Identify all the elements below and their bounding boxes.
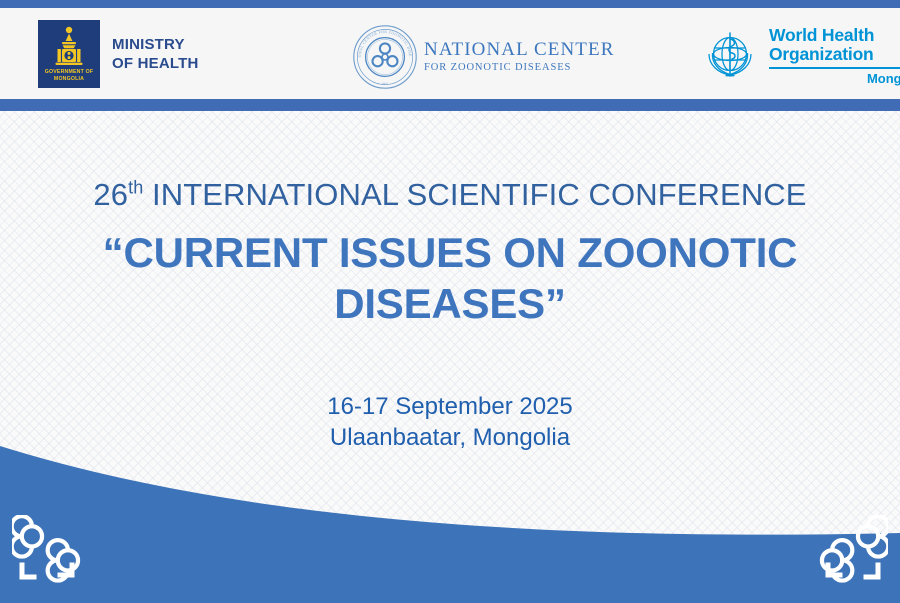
crest-caption-line1: GOVERNMENT OF	[38, 69, 100, 76]
national-center-name-line1: NATIONAL CENTER	[424, 39, 614, 61]
crest-caption-line2: MONGOLIA	[38, 76, 100, 83]
who-emblem-icon	[700, 27, 760, 85]
conference-title-slide: GOVERNMENT OF MONGOLIA MINISTRY OF HEALT…	[0, 0, 900, 603]
wave-blue-shape	[0, 446, 900, 603]
who-country-label: Mongolia	[769, 71, 900, 86]
who-divider	[769, 67, 900, 69]
seal-year: 1931	[382, 81, 389, 85]
soyombo-symbol-icon	[49, 25, 89, 71]
who-name-line2: Organization	[769, 45, 900, 64]
page-title: “CURRENT ISSUES ON ZOONOTIC DISEASES”	[0, 227, 900, 329]
who-logo: World Health Organization Mongolia	[700, 26, 900, 86]
national-center-name-line2: FOR ZOONOTIC DISEASES	[424, 61, 614, 75]
edition-ordinal-suffix: th	[128, 178, 143, 198]
crest-caption: GOVERNMENT OF MONGOLIA	[38, 69, 100, 83]
ministry-name-line1: MINISTRY	[112, 35, 199, 54]
page-title-line1: “CURRENT ISSUES ON ZOONOTIC	[60, 227, 840, 278]
footer-wave-band	[0, 443, 900, 603]
mongolia-state-emblem-icon: GOVERNMENT OF MONGOLIA	[38, 20, 100, 88]
national-center-logo: 1931 NATIONAL CENTER FOR ZOONOTIC DISEAS…	[352, 24, 614, 90]
top-accent-bar	[0, 0, 900, 8]
edition-number: 26	[93, 177, 128, 212]
mongolian-ulzii-knot-icon	[12, 515, 98, 585]
mongolian-ulzii-knot-icon	[802, 515, 888, 585]
ministry-of-health-logo: GOVERNMENT OF MONGOLIA MINISTRY OF HEALT…	[38, 20, 338, 88]
national-center-name: NATIONAL CENTER FOR ZOONOTIC DISEASES	[424, 39, 614, 75]
slide-body: 26th INTERNATIONAL SCIENTIFIC CONFERENCE…	[0, 111, 900, 471]
event-dates: 16-17 September 2025	[0, 391, 900, 422]
conference-edition-line: 26th INTERNATIONAL SCIENTIFIC CONFERENCE	[0, 177, 900, 213]
wave-shape	[0, 443, 900, 603]
edition-text: INTERNATIONAL SCIENTIFIC CONFERENCE	[152, 177, 807, 212]
who-name: World Health Organization Mongolia	[769, 26, 900, 86]
ministry-name-line2: OF HEALTH	[112, 54, 199, 73]
header-separator-bar	[0, 99, 900, 111]
zoonotic-seal-icon: 1931 NATIONAL CENTER FOR ZOONOTIC DISEAS…	[352, 24, 418, 90]
ministry-of-health-name: MINISTRY OF HEALTH	[112, 35, 199, 73]
logo-row: GOVERNMENT OF MONGOLIA MINISTRY OF HEALT…	[0, 8, 900, 99]
who-name-line1: World Health	[769, 26, 900, 45]
page-title-line2: DISEASES”	[60, 278, 840, 329]
